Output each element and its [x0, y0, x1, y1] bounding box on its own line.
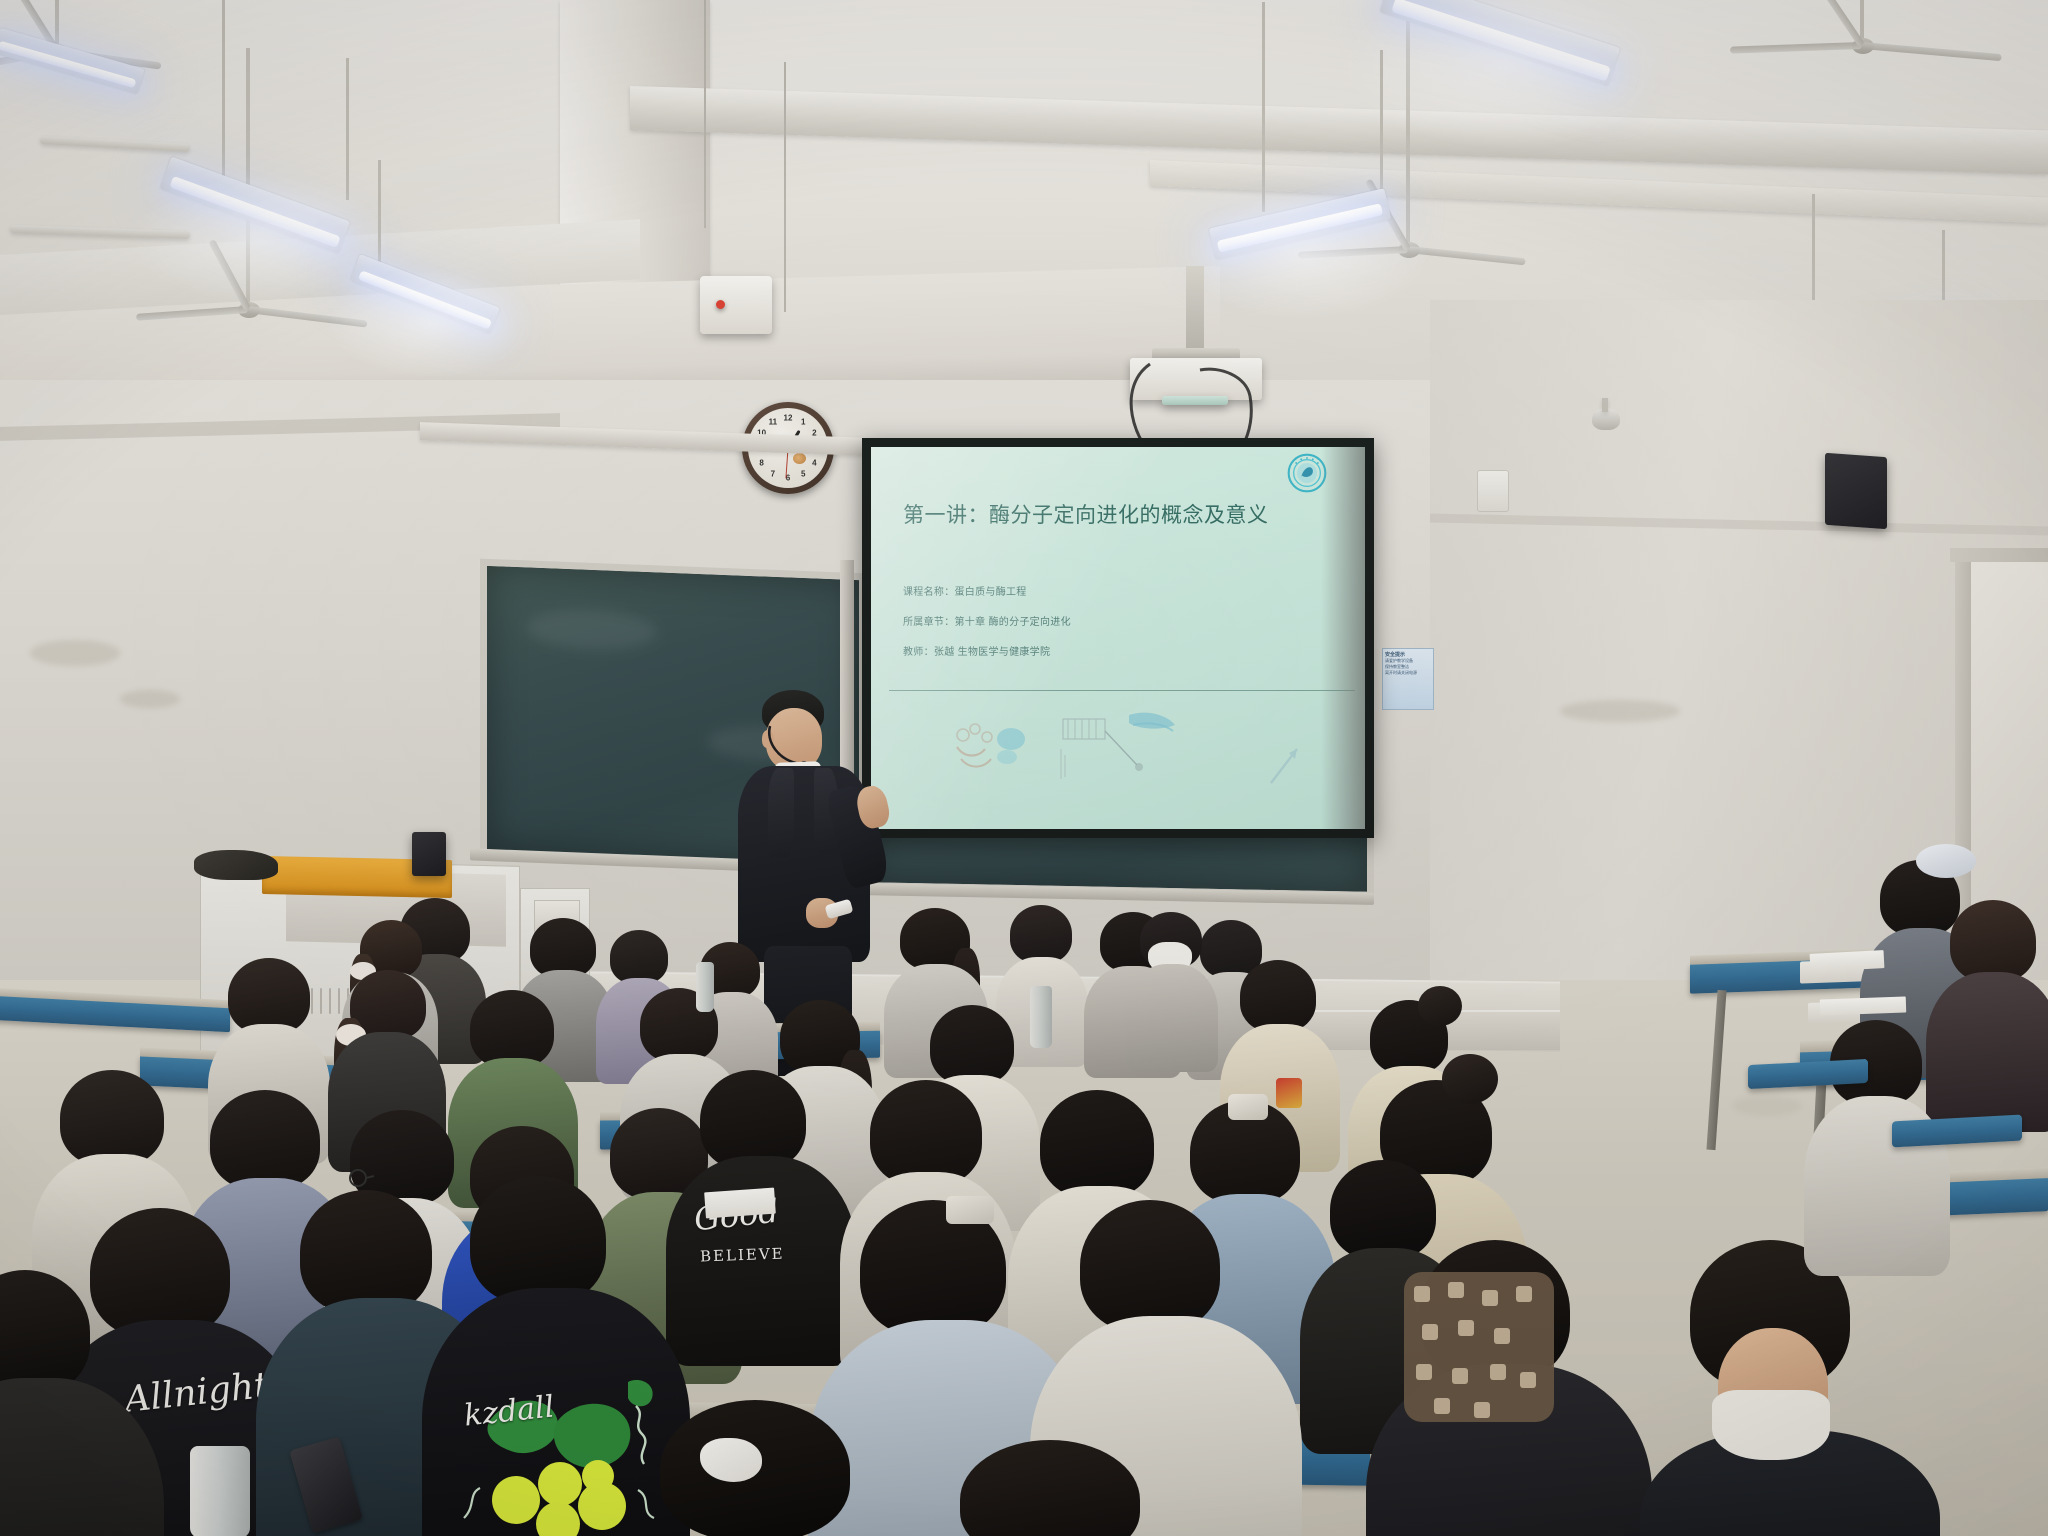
- student-hair: [228, 958, 310, 1034]
- hair-accessory-pompoms: [1916, 844, 1976, 878]
- varsity-sub-text: BELIEVE: [700, 1245, 785, 1266]
- wall-speaker: [1825, 453, 1887, 529]
- clock-numeral-5: 5: [801, 470, 805, 479]
- student-hair: [1040, 1090, 1154, 1198]
- notice-line-1: 请爱护教学设备: [1385, 658, 1413, 663]
- student-hair: [1080, 1200, 1220, 1332]
- ceiling-wire-2: [784, 62, 786, 312]
- wall-scuff-3: [1560, 700, 1680, 722]
- water-bottle-1[interactable]: [1030, 986, 1052, 1048]
- hair-clip: [1228, 1094, 1268, 1120]
- notebook-on-desk-3[interactable]: [1820, 997, 1907, 1016]
- floor-mark: [1732, 1096, 1802, 1116]
- slide-title: 第一讲：酶分子定向进化的概念及意义: [903, 499, 1323, 529]
- notice-line-2: 保持教室整洁: [1385, 664, 1409, 669]
- clock-numeral-11: 11: [769, 417, 777, 426]
- student-hair: [610, 930, 668, 984]
- projection-screen: 第一讲：酶分子定向进化的概念及意义 课程名称：蛋白质与酶工程 所属章节：第十章 …: [862, 438, 1374, 838]
- sensor-indicator-led: [716, 300, 725, 309]
- student-hair: [470, 1176, 606, 1304]
- slide-meta-teacher: 教师：张越 生物医学与健康学院: [903, 643, 1050, 658]
- slide-arrow-art: [1263, 737, 1313, 793]
- student-hair: [470, 990, 554, 1068]
- slide-divider-rule: [889, 690, 1355, 691]
- student-hair: [1240, 960, 1316, 1032]
- student-hair: [1010, 905, 1072, 963]
- student-hair: [300, 1190, 432, 1314]
- clock-numeral-1: 1: [801, 417, 805, 426]
- eyeglasses-icon: [344, 1166, 392, 1190]
- student-hair: [210, 1090, 320, 1190]
- projection-screen-surface: 第一讲：酶分子定向进化的概念及意义 课程名称：蛋白质与酶工程 所属章节：第十章 …: [871, 447, 1365, 829]
- ceiling-sensor: [700, 276, 772, 334]
- student-body: [1926, 972, 2048, 1132]
- clock-numeral-8: 8: [759, 459, 763, 468]
- slide-protein-structure-art: [943, 715, 1053, 795]
- notebook-on-desk-1[interactable]: [704, 1188, 776, 1219]
- lecturer-lapel-left: [768, 768, 794, 858]
- ceiling-wire-1: [704, 0, 706, 228]
- student-hair: [530, 918, 596, 978]
- wall-scuff-2: [120, 690, 180, 708]
- student-hair: [700, 1070, 806, 1170]
- hair-clip: [946, 1196, 994, 1224]
- student-body: [1126, 964, 1218, 1072]
- student-hair: [1330, 1160, 1436, 1260]
- student-hair-bun: [1418, 986, 1462, 1026]
- clock-numeral-4: 4: [812, 459, 816, 468]
- slide-meta-chapter: 所属章节：第十章 酶的分子定向进化: [903, 613, 1071, 628]
- clock-numeral-7: 7: [771, 470, 775, 479]
- screen-edge-shadow: [1321, 447, 1365, 829]
- slide-diagram-art: [1059, 709, 1199, 795]
- slide-meta-course: 课程名称：蛋白质与酶工程: [903, 583, 1027, 598]
- wall-electrical-box: [1477, 470, 1509, 512]
- notice-line-3: 离开时请关闭电源: [1385, 670, 1417, 675]
- clock-sticker: [793, 453, 806, 464]
- camera-mount: [1602, 398, 1608, 412]
- clock-numeral-12: 12: [784, 413, 793, 422]
- door-header: [1950, 548, 2048, 562]
- thermos-bottle[interactable]: [190, 1446, 250, 1536]
- projector-mount-pole: [1186, 266, 1204, 352]
- student-face-mask: [1712, 1390, 1830, 1460]
- student-hair: [870, 1080, 982, 1186]
- notice-heading: 安全提示: [1385, 651, 1431, 658]
- water-bottle-2[interactable]: [696, 962, 714, 1012]
- wall-scuff-1: [30, 640, 120, 666]
- patterned-scarf-icon: [1404, 1272, 1554, 1422]
- chalk-dust-1: [527, 607, 657, 652]
- lecture-hall-photo: 安全提示 请爱护教学设备 保持教室整洁 离开时请关闭电源 12 1 2 3 4 …: [0, 0, 2048, 1536]
- student-hair: [60, 1070, 164, 1166]
- student-hair-bun: [1442, 1054, 1498, 1104]
- draped-coat-on-cabinet: [194, 850, 278, 880]
- student-hair: [90, 1208, 230, 1338]
- student-hair: [1950, 900, 2036, 982]
- jacket-badge: [1276, 1078, 1302, 1108]
- wall-notice-sign: 安全提示 请爱护教学设备 保持教室整洁 离开时请关闭电源: [1382, 648, 1434, 710]
- student-hair: [930, 1005, 1014, 1085]
- podium-monitor-speaker: [412, 832, 446, 876]
